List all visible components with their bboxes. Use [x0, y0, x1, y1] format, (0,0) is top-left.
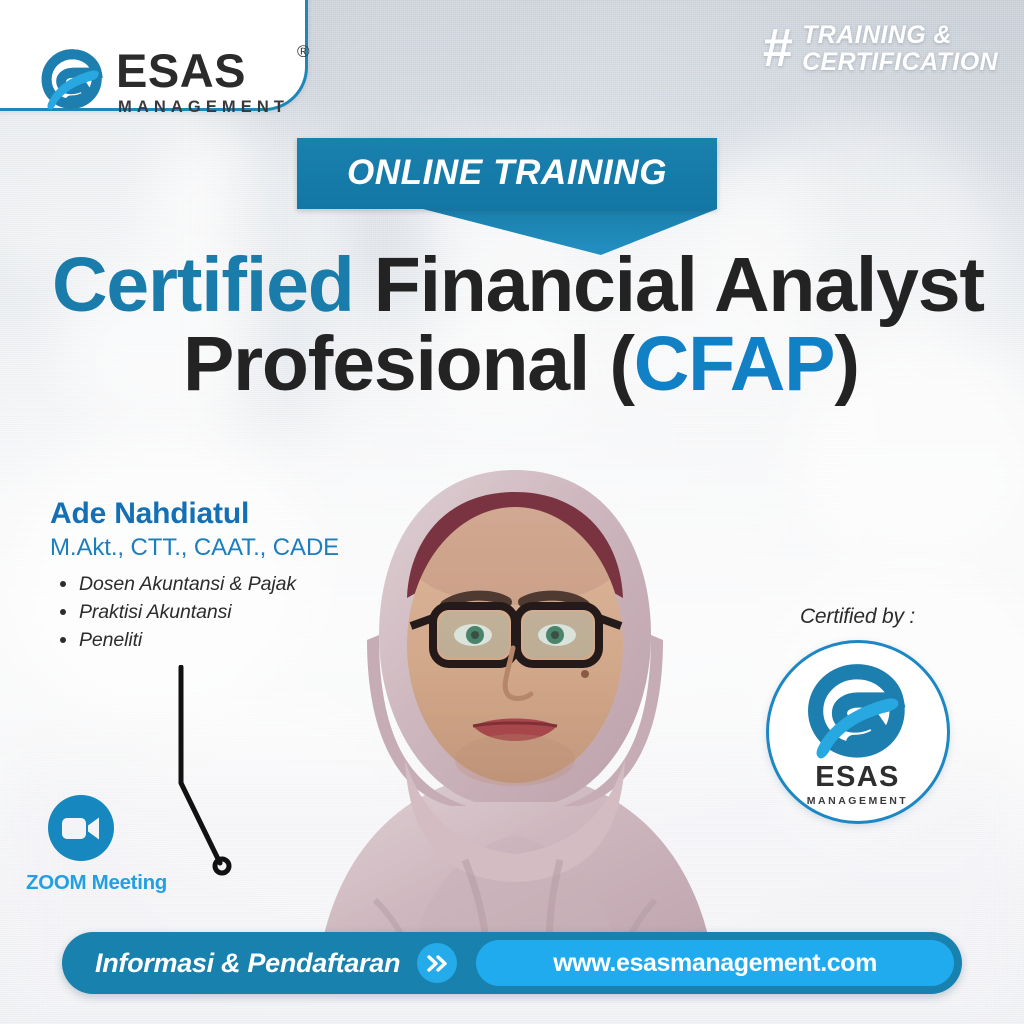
seal-brand-tagline: MANAGEMENT	[807, 795, 908, 807]
certified-by-block: Certified by : ESAS MANAGEMENT	[740, 605, 975, 824]
speaker-block: Ade Nahdiatul M.Akt., CTT., CAAT., CADE …	[50, 498, 420, 655]
speaker-name: Ade Nahdiatul	[50, 498, 420, 530]
title-closing-paren: )	[834, 321, 858, 407]
list-item: Praktisi Akuntansi	[50, 599, 420, 627]
zoom-platform-badge: ZOOM Meeting	[26, 795, 206, 895]
certification-seal: ESAS MANAGEMENT	[766, 640, 950, 824]
esas-e-swoosh-logo-icon	[802, 662, 914, 762]
zoom-video-camera-icon	[48, 795, 114, 861]
zoom-platform-label: ZOOM Meeting	[26, 871, 206, 895]
list-item: Dosen Akuntansi & Pajak	[50, 571, 420, 599]
registered-trademark-mark: ®	[297, 43, 310, 60]
speaker-roles-list: Dosen Akuntansi & Pajak Praktisi Akuntan…	[50, 571, 420, 655]
brand-logo: ESAS® MANAGEMENT	[40, 40, 305, 120]
page-title-line-1: Certified Financial Analyst	[52, 250, 1002, 322]
title-acronym-cfap: CFAP	[634, 321, 835, 407]
title-words-financial-analyst: Financial Analyst	[374, 242, 984, 328]
hashtag-line-2: CERTIFICATION	[802, 49, 998, 76]
hash-symbol-icon: #	[762, 24, 790, 74]
cta-website-button[interactable]: www.esasmanagement.com	[476, 940, 954, 986]
hashtag-badge-text: TRAINING & CERTIFICATION	[802, 22, 998, 75]
page-title-line-2: Profesional (CFAP)	[52, 329, 1002, 401]
brand-logo-wordmark: ESAS® MANAGEMENT	[116, 45, 289, 116]
title-word-profesional: Profesional (	[183, 321, 634, 407]
ribbon-body-shape: ONLINE TRAINING	[297, 138, 717, 209]
poster-canvas: ESAS® MANAGEMENT # TRAINING & CERTIFICAT…	[0, 0, 1024, 1024]
double-chevron-right-icon	[417, 943, 457, 983]
hashtag-badge: # TRAINING & CERTIFICATION	[762, 22, 998, 75]
hashtag-line-1: TRAINING &	[802, 22, 998, 49]
speaker-credentials: M.Akt., CTT., CAAT., CADE	[50, 535, 420, 562]
ribbon-label: ONLINE TRAINING	[297, 138, 717, 209]
certified-by-caption: Certified by :	[740, 605, 975, 629]
title-word-certified: Certified	[52, 242, 354, 328]
cta-registration-bar[interactable]: Informasi & Pendaftaran www.esasmanageme…	[62, 932, 962, 994]
esas-e-swoosh-logo-icon	[40, 46, 106, 114]
page-title: Certified Financial Analyst Profesional …	[52, 250, 1002, 400]
seal-brand-name: ESAS	[815, 763, 900, 792]
cta-label: Informasi & Pendaftaran	[95, 948, 400, 979]
brand-tagline: MANAGEMENT	[118, 99, 289, 116]
cta-website-url: www.esasmanagement.com	[553, 949, 877, 978]
brand-name: ESAS	[116, 44, 246, 97]
list-item: Peneliti	[50, 627, 420, 655]
